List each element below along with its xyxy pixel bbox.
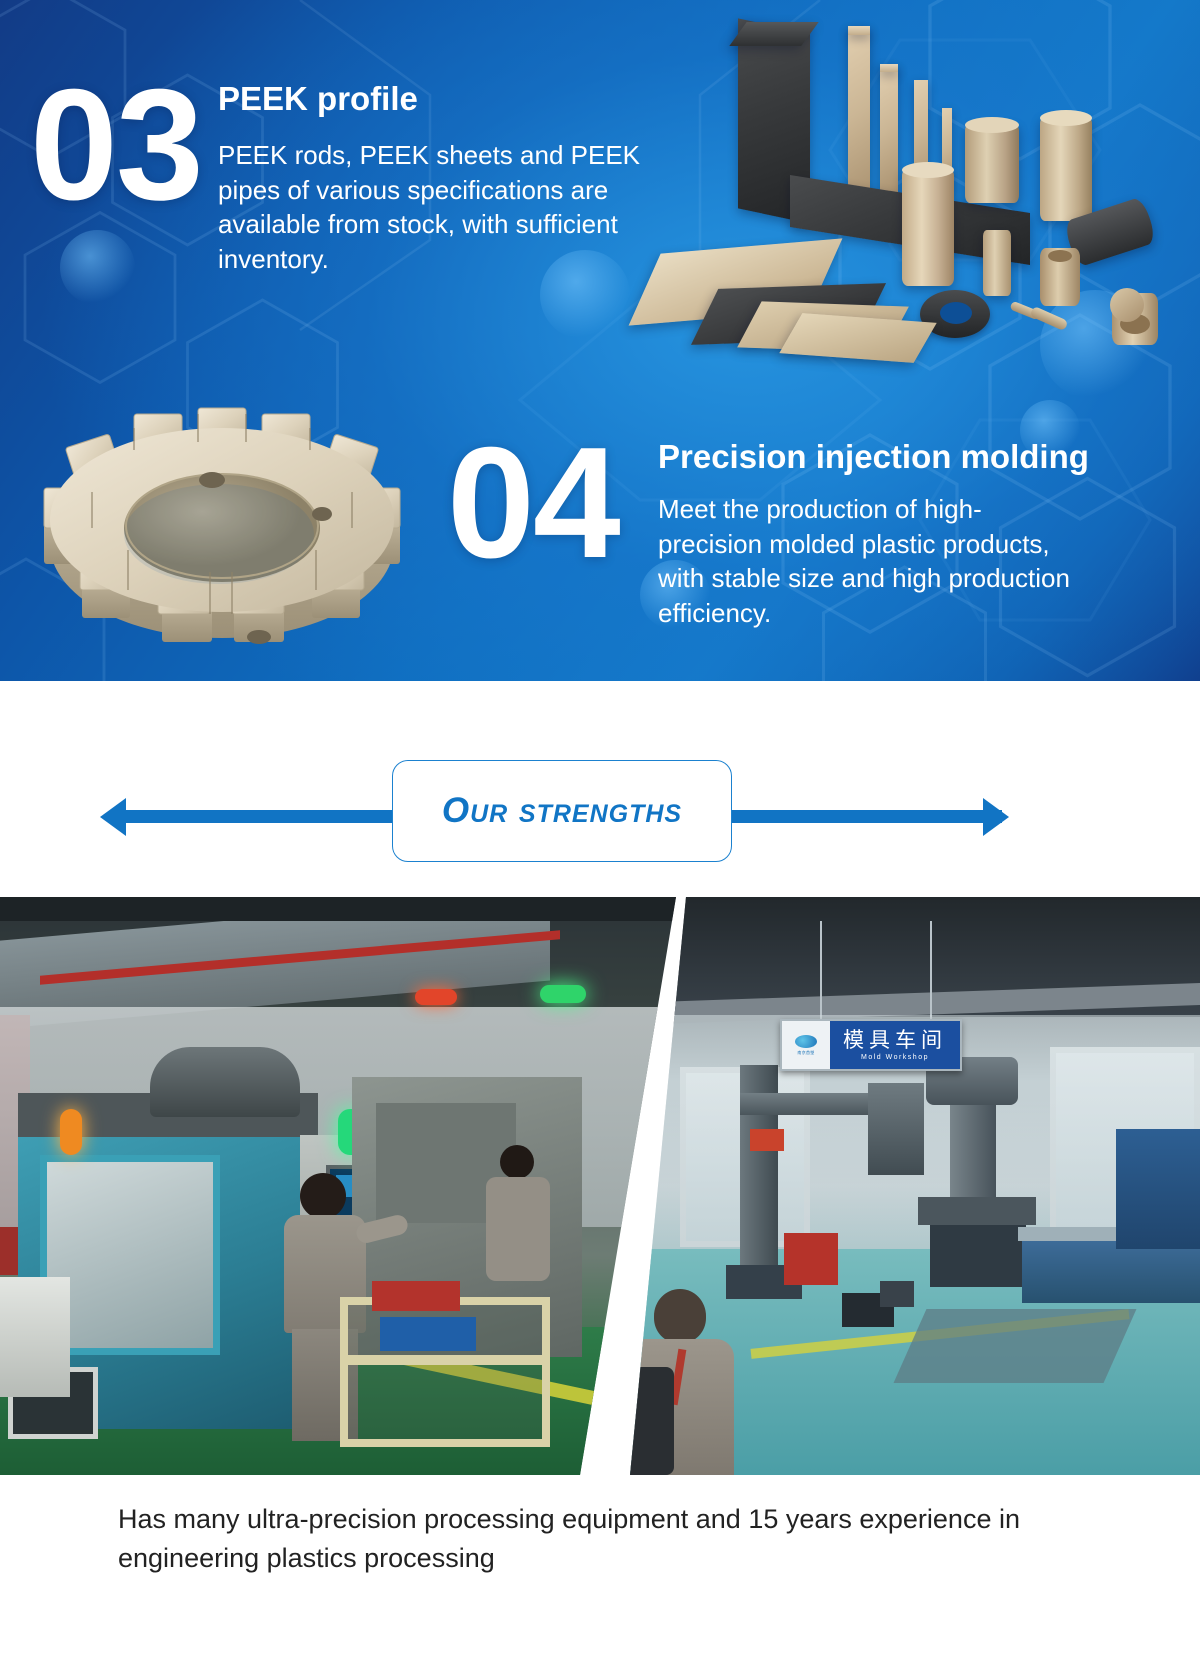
product-tan-cylinder-small [983,230,1011,296]
our-strengths-label-box: Our strengths [392,760,732,862]
divider-line-right [712,810,1002,823]
company-logo: 南京首塑 [782,1021,830,1069]
logo-mark-icon [795,1035,817,1048]
desk-cabinet [0,1277,70,1397]
block-title-03: PEEK profile [218,80,418,118]
product-cylinder-top [902,162,954,178]
product-tan-rod-top [848,26,870,35]
product-cylinder-top [1040,110,1092,126]
cart-shelf [348,1355,542,1365]
radial-drill-head [868,1083,924,1175]
hanging-cable [930,921,932,1021]
milling-machine-base [930,1225,1026,1287]
peek-gear-ring-product-image [22,392,422,654]
block-body-03: PEEK rods, PEEK sheets and PEEK pipes of… [218,138,648,276]
block-number-04: 04 [447,432,619,574]
factory-photo-gallery: 南京首塑 模具车间 Mold Workshop [0,897,1200,1475]
worker-operator-head [300,1173,346,1219]
product-tan-cylinder [965,123,1019,203]
block-title-04: Precision injection molding [658,438,1089,476]
peek-marketing-page: 03 PEEK profile PEEK rods, PEEK sheets a… [0,0,1200,1664]
milling-machine-table [918,1197,1036,1225]
product-tan-cylinder [902,168,954,286]
cart-box-red [372,1281,460,1311]
mold-block [880,1281,914,1307]
sign-text-chinese: 模具车间 [843,1030,947,1051]
sign-panel: 模具车间 Mold Workshop [830,1021,960,1069]
worker-seated-head [654,1289,706,1343]
divider-line-left [120,810,420,823]
product-black-ring-hole [940,302,972,324]
machine-warning-marker [750,1129,784,1151]
our-strengths-label: Our strengths [442,791,682,831]
hanging-cable [820,921,822,1021]
peek-profile-product-image [620,18,1180,358]
block-body-04: Meet the production of high-precision mo… [658,492,1078,630]
product-tan-rod [880,66,898,196]
product-tan-rod-top [880,64,898,72]
block-number-03: 03 [30,74,202,216]
arrow-right-icon [983,798,1009,836]
photo-mold-workshop: 南京首塑 模具车间 Mold Workshop [630,897,1200,1475]
product-tan-tube-hole [1048,250,1072,262]
worker-secondary-head [500,1145,534,1179]
product-tan-sheet [779,313,936,363]
product-tan-rod [848,28,870,204]
product-tan-cylinder [1040,116,1092,221]
gallery-caption: Has many ultra-precision processing equi… [118,1500,1098,1578]
cart-box-blue [380,1317,476,1351]
ceiling-beam [0,897,676,921]
blue-shelving [1116,1129,1200,1249]
product-tan-dowel [1029,306,1068,332]
logo-text: 南京首塑 [797,1050,814,1056]
hero-section: 03 PEEK profile PEEK rods, PEEK sheets a… [0,0,1200,681]
gear-pin-hole [199,472,225,488]
steel-plate-floor [894,1309,1137,1383]
red-tool-cart [784,1233,838,1285]
status-lamp-orange [60,1109,82,1155]
mold-workshop-sign: 南京首塑 模具车间 Mold Workshop [780,1019,962,1071]
worker-secondary-body [486,1177,550,1281]
gear-pin-hole [312,507,332,521]
product-tan-tube [1110,288,1144,322]
product-cylinder-top [965,117,1019,133]
sign-text-english: Mold Workshop [861,1054,929,1061]
office-chair [630,1367,674,1475]
glow-dot [60,230,135,305]
photo-cnc-workshop [0,897,676,1475]
gear-pin-hole [247,630,271,644]
status-lamp-red [415,989,457,1005]
status-lamp-green [540,985,586,1003]
cnc-spindle-housing [150,1047,300,1117]
